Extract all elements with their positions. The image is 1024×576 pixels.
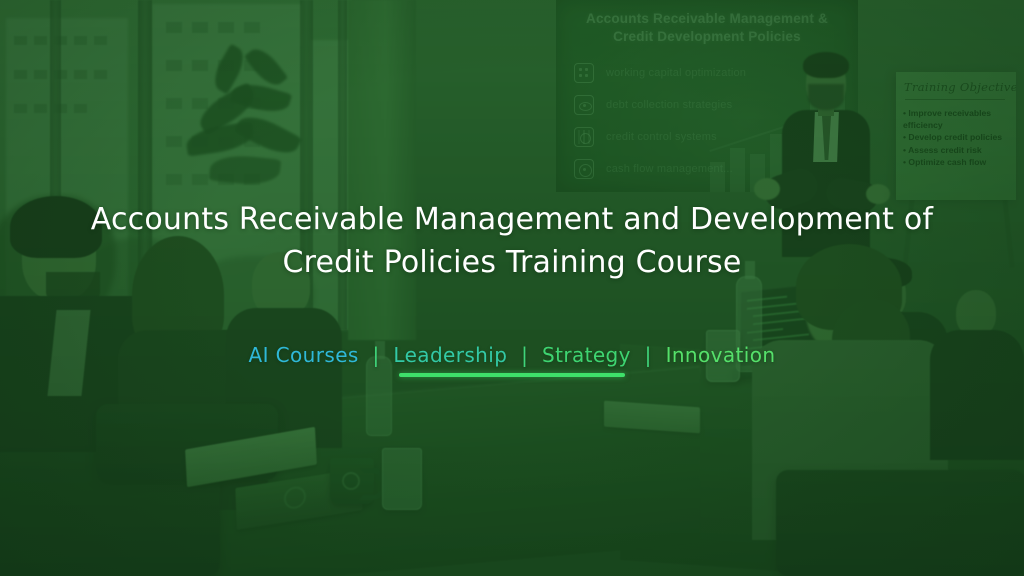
tag-separator: | bbox=[638, 343, 659, 367]
tag-separator: | bbox=[365, 343, 386, 367]
accent-underline bbox=[399, 373, 625, 377]
course-banner: Accounts Receivable Management & Credit … bbox=[0, 0, 1024, 576]
tagline: AI Courses | Leadership | Strategy | Inn… bbox=[249, 343, 776, 367]
banner-content: Accounts Receivable Management and Devel… bbox=[0, 0, 1024, 576]
tag-ai-courses: AI Courses bbox=[249, 343, 359, 367]
page-title: Accounts Receivable Management and Devel… bbox=[72, 199, 952, 284]
tagline-block: AI Courses | Leadership | Strategy | Inn… bbox=[249, 343, 776, 377]
tag-innovation: Innovation bbox=[666, 343, 776, 367]
tag-strategy: Strategy bbox=[542, 343, 631, 367]
tag-leadership: Leadership bbox=[393, 343, 507, 367]
tag-separator: | bbox=[514, 343, 535, 367]
